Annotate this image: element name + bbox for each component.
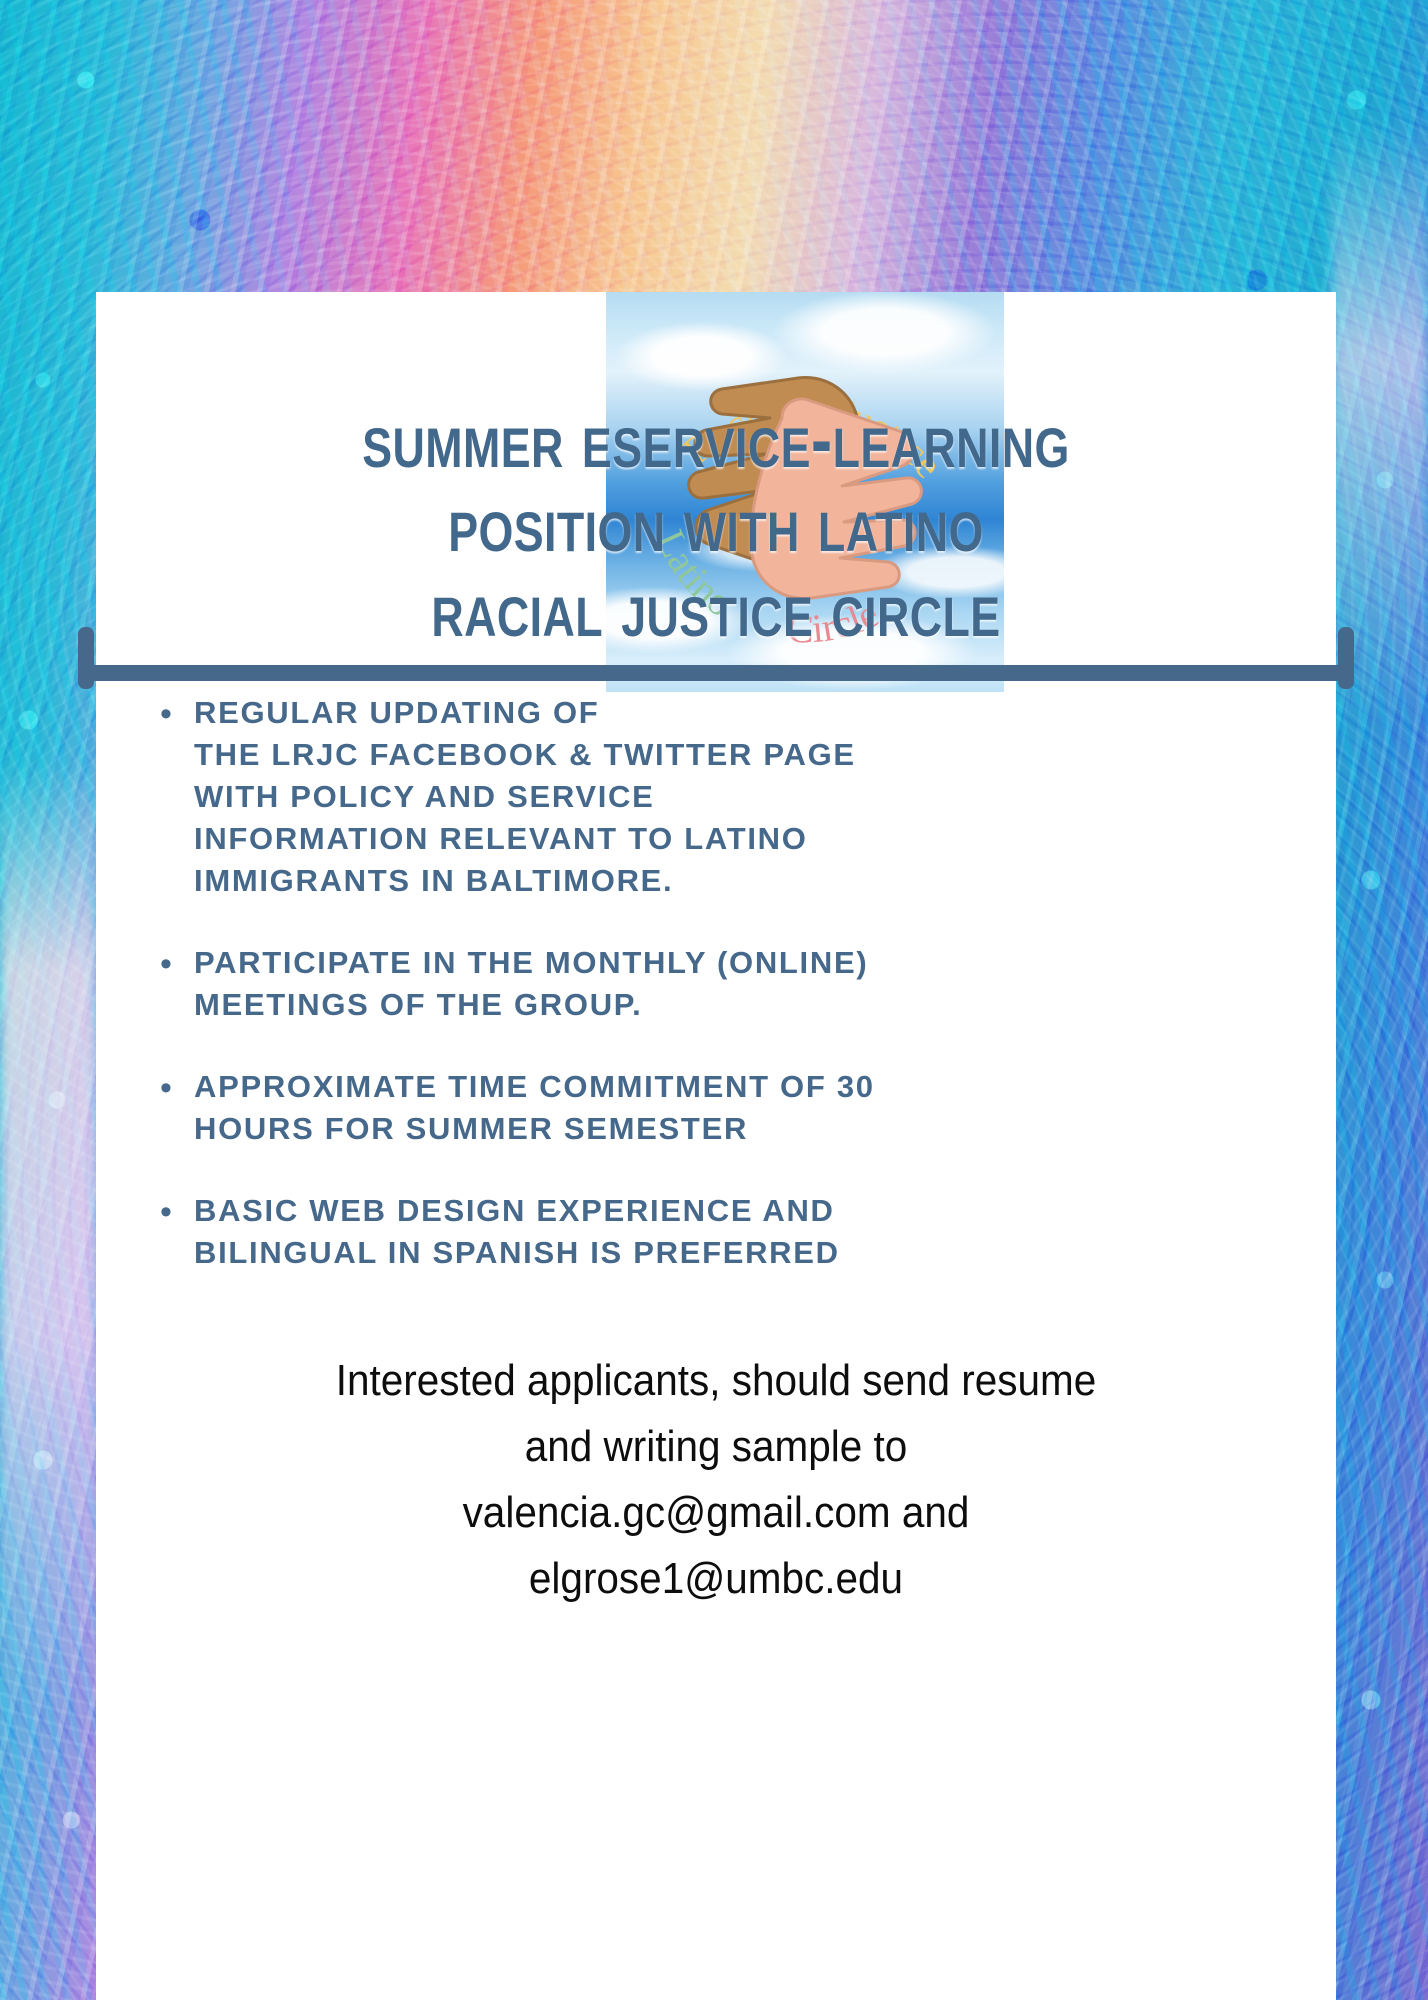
title-line-2: Position With Latino [220, 482, 1212, 567]
list-item: • Approximate time commitment of 30 hour… [156, 1066, 1276, 1150]
list-item-text: Regular updating of the LRJC Facebook & … [194, 692, 1276, 902]
list-item: • Participate in the monthly (online) me… [156, 942, 1276, 1026]
content-card: Racial Justice Latino Circle [96, 292, 1336, 2000]
divider-bar [78, 665, 1354, 681]
list-item: • Basic web design experience and biling… [156, 1190, 1276, 1274]
list-item-text: Approximate time commitment of 30 hours … [194, 1066, 1276, 1150]
bullet-dot-icon: • [156, 692, 194, 736]
responsibilities-list: • Regular updating of the LRJC Facebook … [156, 692, 1276, 1314]
title-line-1: Summer EService-Learning [220, 398, 1212, 483]
list-item-text: Participate in the monthly (online) meet… [194, 942, 1276, 1026]
bullet-dot-icon: • [156, 942, 194, 986]
title-divider [78, 627, 1354, 689]
bullet-dot-icon: • [156, 1066, 194, 1110]
list-item-text: Basic web design experience and bilingua… [194, 1190, 1276, 1274]
page-title: Summer EService-Learning Position With L… [220, 398, 1212, 652]
background-warm-wash-left [0, 760, 96, 1720]
contact-instructions: Interested applicants, should send resum… [201, 1348, 1231, 1612]
poster: Racial Justice Latino Circle [0, 0, 1428, 2000]
list-item: • Regular updating of the LRJC Facebook … [156, 692, 1276, 902]
divider-cap-right [1338, 627, 1354, 689]
bullet-dot-icon: • [156, 1190, 194, 1234]
